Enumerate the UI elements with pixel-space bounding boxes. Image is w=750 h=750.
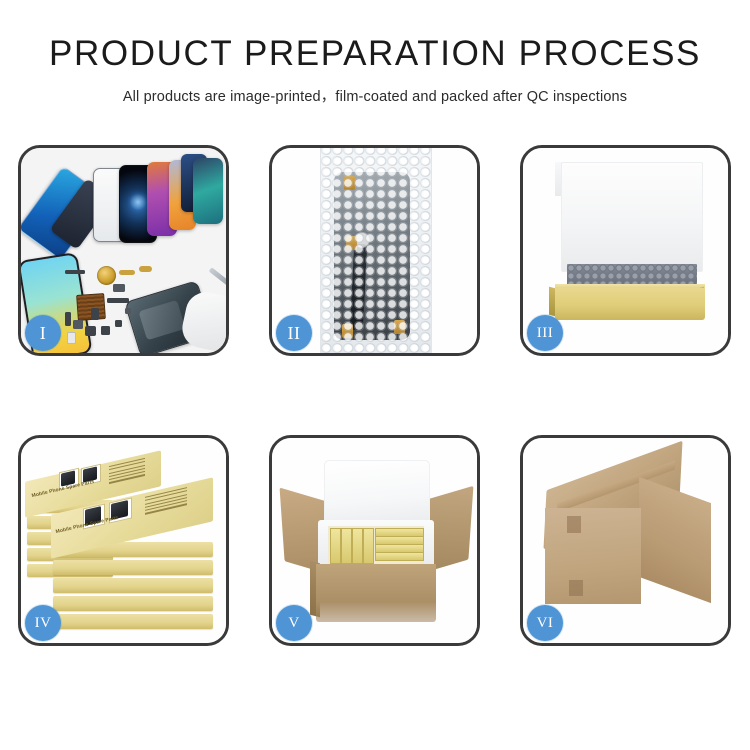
small-part (65, 312, 71, 326)
small-part (101, 326, 110, 335)
packed-yellow-box (341, 528, 352, 564)
step-badge-6: VI (527, 605, 563, 641)
page-subtitle: All products are image-printed，film-coat… (0, 85, 750, 106)
stacked-box (53, 560, 213, 575)
tape-strip (394, 320, 405, 334)
stacked-box (53, 614, 213, 629)
packed-yellow-box (363, 528, 374, 564)
small-part (85, 326, 96, 336)
small-part (67, 332, 76, 344)
packed-yellow-box (352, 528, 363, 564)
small-part (107, 298, 129, 303)
tape-strip (346, 236, 357, 250)
small-part (139, 266, 152, 272)
process-step-card-1[interactable]: I (18, 145, 229, 356)
white-foam-lid (561, 162, 703, 272)
tweezers-tool (209, 267, 226, 289)
tape-strip (342, 324, 353, 338)
process-step-card-3[interactable]: III (520, 145, 731, 356)
step-badge-5: V (276, 605, 312, 641)
small-part (119, 270, 135, 275)
wrapped-display-panel (334, 172, 410, 340)
page-title: PRODUCT PREPARATION PROCESS (0, 36, 750, 73)
packed-yellow-box (375, 552, 424, 561)
small-part (115, 320, 122, 327)
process-step-card-4[interactable]: Mobile Phone Spare Parts Mobile Phone Sp… (18, 435, 229, 646)
foam-box-interior (328, 526, 424, 564)
kraft-box-body (555, 288, 705, 320)
stacked-box (53, 578, 213, 593)
process-step-grid: I II III (18, 145, 732, 646)
small-part (73, 320, 83, 329)
page-header: PRODUCT PREPARATION PROCESS All products… (0, 0, 750, 106)
step-badge-2: II (276, 315, 312, 351)
foam-box-lid-open (324, 460, 430, 526)
phone-display-teal (193, 158, 223, 224)
carton-front-panel (545, 508, 641, 604)
step-badge-4: IV (25, 605, 61, 641)
process-step-card-5[interactable]: V (269, 435, 480, 646)
step-badge-3: III (527, 315, 563, 351)
small-part (125, 308, 131, 314)
step-badge-1: I (25, 315, 61, 351)
carton-tape-tab-upper (567, 516, 581, 533)
process-step-card-2[interactable]: II (269, 145, 480, 356)
small-part (65, 270, 85, 274)
carton-tape-tab-lower (569, 580, 583, 596)
process-step-card-6[interactable]: VI (520, 435, 731, 646)
speaker-coil-part (97, 266, 116, 285)
carton-right-panel (639, 477, 711, 603)
tape-strip (344, 176, 355, 190)
small-part (113, 284, 125, 292)
packed-yellow-box (330, 528, 341, 564)
carton-front-panel (316, 564, 436, 622)
stacked-box (53, 596, 213, 611)
small-part (91, 308, 99, 320)
